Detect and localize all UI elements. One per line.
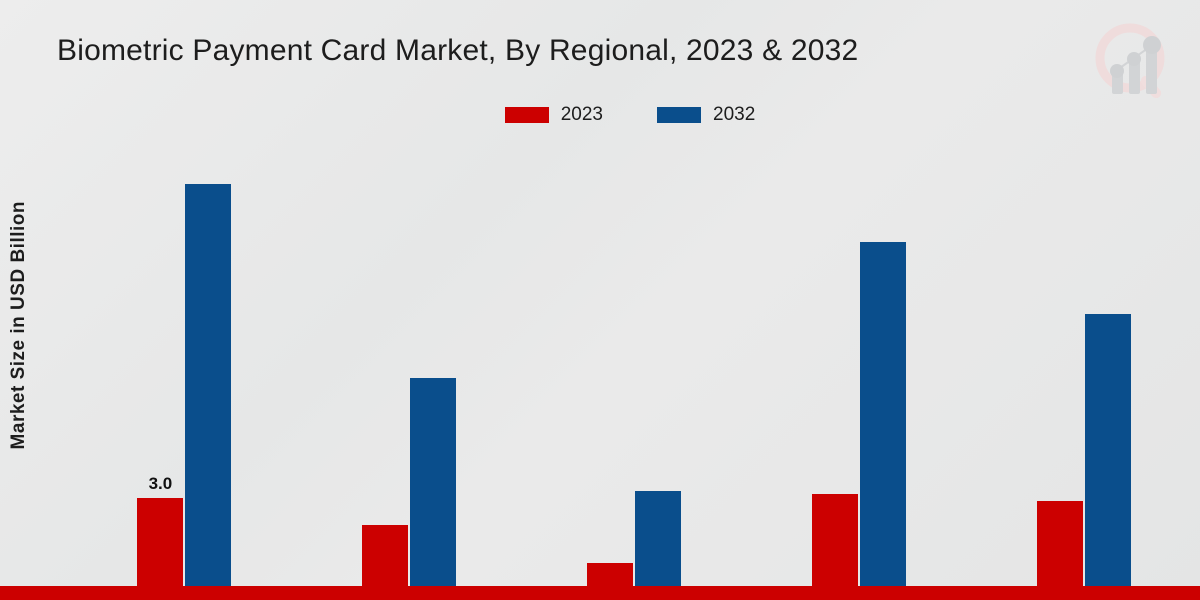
bar-2023-asia-pacific[interactable]: [812, 494, 858, 600]
bar-2023-north-america[interactable]: 3.0: [137, 498, 183, 600]
legend-label-2023: 2023: [561, 104, 603, 126]
bar-group: 3.0NORTHAMERICA: [72, 150, 297, 600]
chart-title: Biometric Payment Card Market, By Region…: [57, 34, 858, 68]
bar-pair: [971, 150, 1196, 600]
chart-legend: 2023 2032: [0, 104, 1200, 126]
bar-pair: 3.0: [72, 150, 297, 600]
bar-2032-north-america[interactable]: [185, 184, 231, 600]
bar-group: MIDDLEEASTANDAFRICA: [971, 150, 1196, 600]
chart-page: Biometric Payment Card Market, By Region…: [0, 0, 1200, 600]
bar-pair: [746, 150, 971, 600]
watermark-logo-icon: [1086, 14, 1182, 106]
legend-swatch-2032: [657, 107, 701, 123]
bar-value-label: 3.0: [149, 474, 173, 494]
bar-group: EUROPE: [297, 150, 522, 600]
bar-2032-asia-pacific[interactable]: [860, 242, 906, 600]
legend-swatch-2023: [505, 107, 549, 123]
bar-group: SOUTHAMERICA: [522, 150, 747, 600]
bar-2032-europe[interactable]: [410, 378, 456, 600]
legend-item-2023[interactable]: 2023: [505, 104, 603, 126]
bar-groups: 3.0NORTHAMERICAEUROPESOUTHAMERICAASIAPAC…: [72, 150, 1196, 600]
bar-2032-south-america[interactable]: [635, 491, 681, 600]
legend-item-2032[interactable]: 2032: [657, 104, 755, 126]
bar-pair: [522, 150, 747, 600]
y-axis-title: Market Size in USD Billion: [2, 155, 36, 495]
bar-pair: [297, 150, 522, 600]
legend-label-2032: 2032: [713, 104, 755, 126]
y-axis-title-text: Market Size in USD Billion: [8, 201, 30, 449]
bar-2032-middle-east-and-africa[interactable]: [1085, 314, 1131, 600]
bar-group: ASIAPACIFIC: [746, 150, 971, 600]
footer-accent-bar: [0, 586, 1200, 600]
plot-area: 3.0NORTHAMERICAEUROPESOUTHAMERICAASIAPAC…: [36, 150, 1186, 450]
